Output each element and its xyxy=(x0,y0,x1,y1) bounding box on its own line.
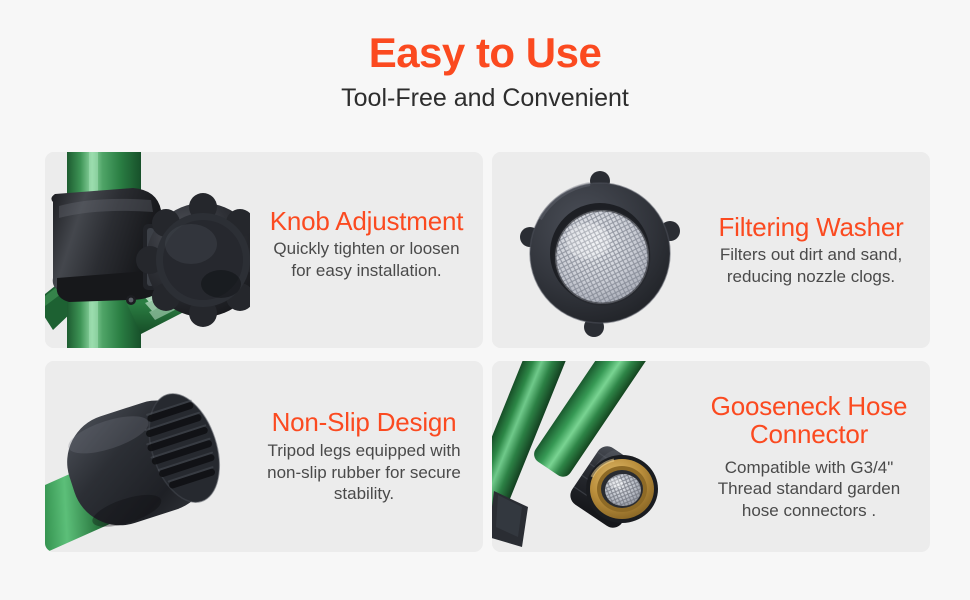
feature-card-filtering-washer: Filtering Washer Filters out dirt and sa… xyxy=(492,152,930,348)
filtering-washer-photo xyxy=(492,152,692,348)
page-title: Easy to Use xyxy=(0,0,970,75)
card-body-line-2: non-slip rubber for secure xyxy=(245,462,483,484)
gooseneck-connector-illustration xyxy=(492,361,688,552)
knob-adjustment-illustration xyxy=(45,152,250,348)
card-title: Filtering Washer xyxy=(692,213,930,243)
knob-adjustment-photo xyxy=(45,152,250,348)
gooseneck-connector-photo xyxy=(492,361,688,552)
page-subtitle: Tool-Free and Convenient xyxy=(0,75,970,113)
infographic-page: Easy to Use Tool-Free and Convenient xyxy=(0,0,970,600)
card-body-line-1: Quickly tighten or loosen xyxy=(250,238,483,260)
card-body-line-3: hose connectors . xyxy=(688,500,930,522)
filtering-washer-illustration xyxy=(492,152,692,348)
card-body-line-1: Tripod legs equipped with xyxy=(245,440,483,462)
non-slip-design-text: Non-Slip Design Tripod legs equipped wit… xyxy=(245,361,483,552)
non-slip-design-illustration xyxy=(45,361,245,552)
card-body-line-3: stability. xyxy=(245,483,483,505)
knob-adjustment-text: Knob Adjustment Quickly tighten or loose… xyxy=(250,152,483,348)
feature-card-gooseneck-hose-connector: Gooseneck Hose Connector Compatible with… xyxy=(492,361,930,552)
feature-card-grid: Knob Adjustment Quickly tighten or loose… xyxy=(45,152,929,552)
card-body-line-1: Compatible with G3/4" xyxy=(688,457,930,479)
gooseneck-connector-text: Gooseneck Hose Connector Compatible with… xyxy=(688,361,930,552)
card-body-line-2: reducing nozzle clogs. xyxy=(692,266,930,288)
filtering-washer-text: Filtering Washer Filters out dirt and sa… xyxy=(692,152,930,348)
non-slip-design-photo xyxy=(45,361,245,552)
feature-card-knob-adjustment: Knob Adjustment Quickly tighten or loose… xyxy=(45,152,483,348)
header: Easy to Use Tool-Free and Convenient xyxy=(0,0,970,113)
feature-card-non-slip-design: Non-Slip Design Tripod legs equipped wit… xyxy=(45,361,483,552)
card-body-line-1: Filters out dirt and sand, xyxy=(692,244,930,266)
card-body-line-2: Thread standard garden xyxy=(688,478,930,500)
card-title: Gooseneck Hose Connector xyxy=(688,392,930,449)
card-title: Non-Slip Design xyxy=(245,408,483,438)
card-body-line-2: for easy installation. xyxy=(250,260,483,282)
card-title: Knob Adjustment xyxy=(250,207,483,237)
